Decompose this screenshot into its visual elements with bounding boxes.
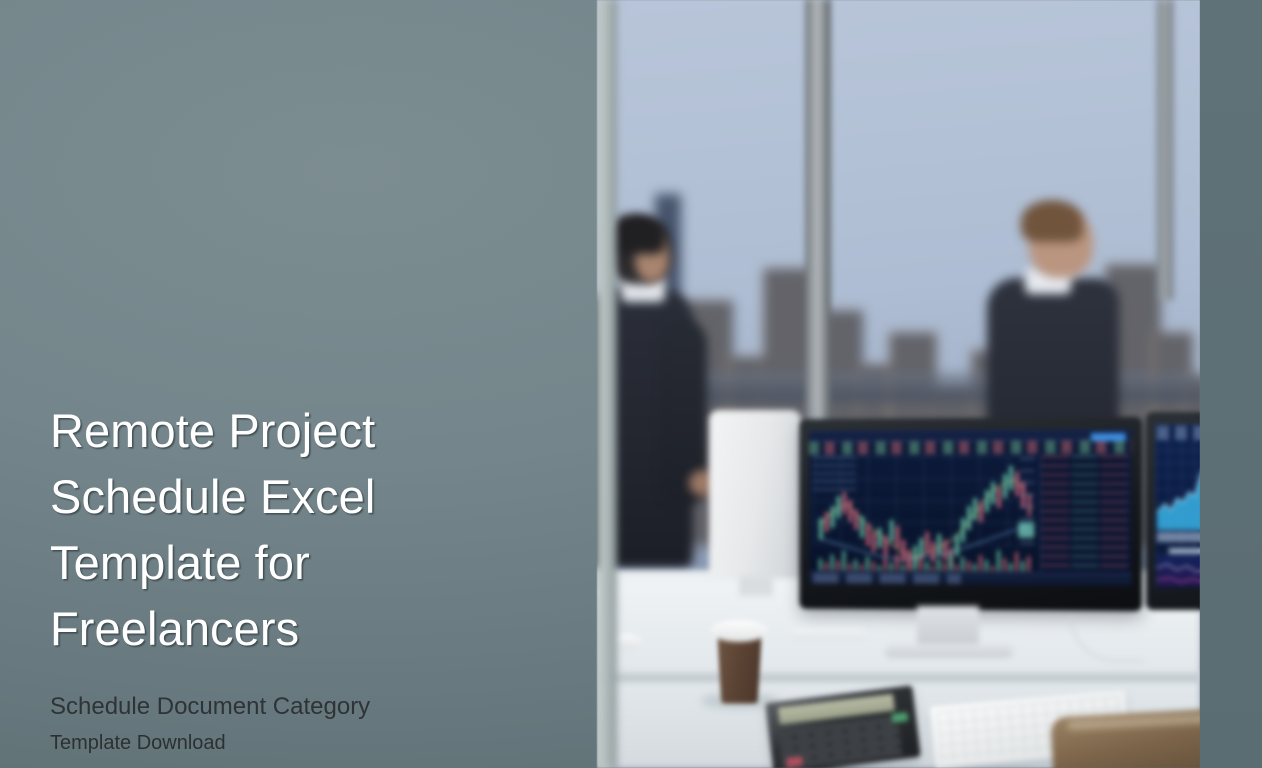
coffee-cup [717,632,762,704]
secondary-value-label [1169,548,1200,554]
trading-terminal-screen [809,429,1132,586]
slide-caption: Template Download [50,730,570,756]
order-book-size-column [1100,455,1129,571]
trading-monitor-secondary [1146,412,1200,610]
interior-wall [597,0,619,768]
calculator-clear-key [786,756,803,767]
order-book-panel [1040,455,1127,571]
order-book-ask-column [1072,455,1098,571]
window-mullion-secondary [1157,0,1173,300]
price-highlight [1018,522,1034,538]
secondary-header-row [1157,426,1200,440]
secondary-lower-panel [1157,556,1200,586]
volume-bars [813,545,1035,572]
slide-subtitle: Schedule Document Category [50,692,570,722]
monitor-stand [917,606,979,648]
candlestick-series [813,456,1035,547]
terminal-action-button [1091,433,1126,441]
calculator-equals-key [891,712,908,723]
page-title: Remote Project Schedule Excel Template f… [50,398,570,662]
secondary-value-band [1157,532,1200,542]
secondary-lower-svg [1157,556,1200,586]
presentation-slide: Remote Project Schedule Excel Template f… [0,0,1262,768]
desk-edge [597,672,1200,682]
secondary-area-chart [1157,454,1200,530]
coffee-cup-lid [710,620,768,642]
businessman-right-hair [1021,200,1083,242]
window-mullion [805,0,831,430]
terminal-tabs [813,573,961,584]
imac-monitor [709,410,801,578]
hero-photo [597,0,1200,768]
trading-monitor-main [799,417,1142,611]
imac-monitor-foot [739,576,773,596]
right-color-band [1200,0,1262,768]
secondary-screen [1155,424,1200,588]
terminal-ticker-row [809,440,1132,455]
slide-text-block: Remote Project Schedule Excel Template f… [50,398,570,756]
volume-svg [813,545,1035,572]
order-book-bid-column [1041,456,1069,572]
area-chart-svg [1157,454,1200,530]
monitor-base [885,644,1013,658]
keyboard-far [793,628,865,640]
